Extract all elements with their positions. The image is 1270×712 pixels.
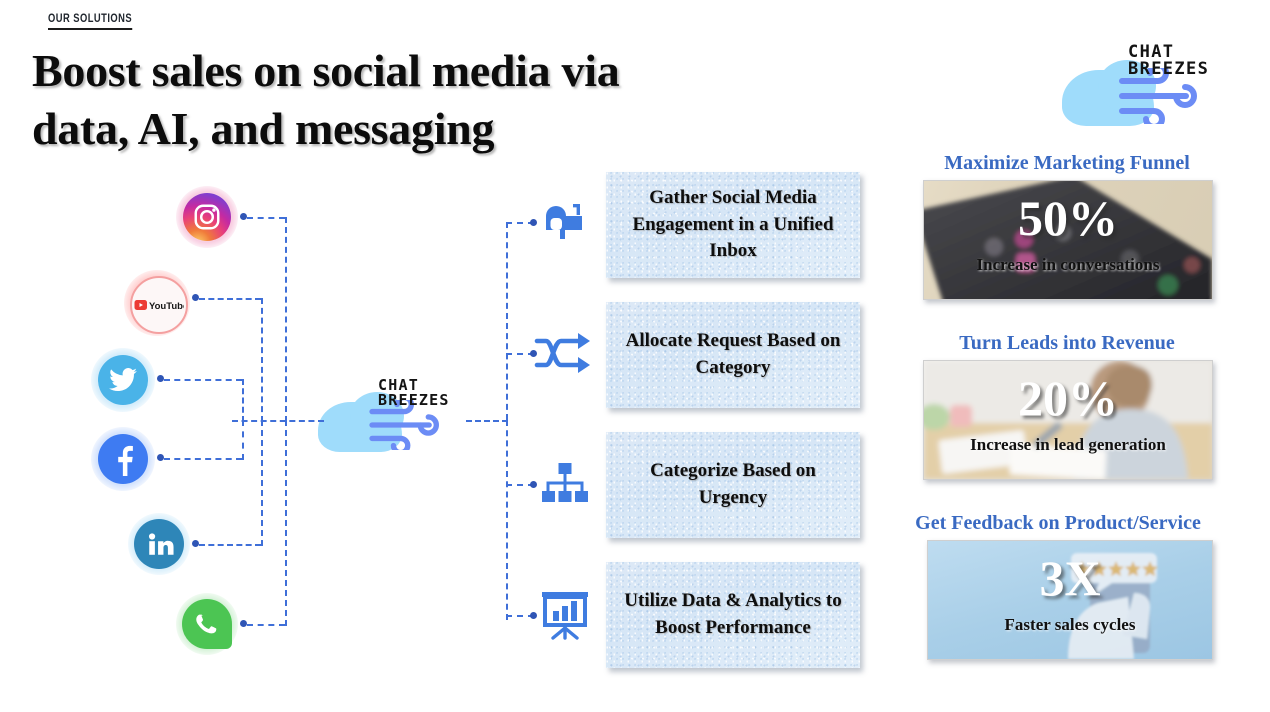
brand-logo-top-right: CHAT BREEZES [1062, 44, 1230, 126]
connector-line [285, 420, 287, 626]
connector-dot [192, 540, 199, 547]
social-icon-whatsapp[interactable] [176, 593, 238, 655]
stat-card-metric: 20% [924, 373, 1212, 423]
instagram-glyph [183, 193, 231, 241]
connector-dot [530, 481, 537, 488]
stat-card-frame: 3X Faster sales cycles [927, 540, 1213, 660]
connector-line [242, 379, 244, 422]
social-icon-twitter[interactable] [91, 348, 155, 412]
connector-line [164, 379, 242, 381]
presentation-chart-icon[interactable] [540, 588, 590, 640]
feature-box-label: Categorize Based on Urgency [606, 458, 860, 511]
connector-dot [157, 454, 164, 461]
brand-wordmark: CHAT BREEZES [378, 378, 450, 409]
connector-line [506, 222, 508, 420]
connector-line [199, 298, 261, 300]
twitter-bird-icon [108, 367, 138, 393]
social-icon-linkedin[interactable] [128, 513, 190, 575]
stat-card[interactable]: Get Feedback on Product/Service [905, 512, 1211, 662]
facebook-glyph [98, 434, 148, 484]
social-icon-youtube[interactable]: YouTube [124, 270, 190, 336]
connector-line [247, 624, 285, 626]
stat-card-caption: Increase in lead generation [924, 435, 1212, 455]
feature-box-label: Allocate Request Based on Category [606, 328, 860, 381]
svg-text:YouTube: YouTube [149, 301, 184, 312]
connector-line [199, 544, 261, 546]
linkedin-glyph [134, 519, 184, 569]
section-eyebrow-label: OUR SOLUTIONS [48, 11, 132, 30]
connector-dot [157, 375, 164, 382]
brand-word-line-2: BREEZES [1128, 61, 1209, 78]
connector-trunk-left [232, 420, 324, 422]
slide-canvas: OUR SOLUTIONS Boost sales on social medi… [0, 0, 1270, 712]
connector-line [261, 420, 263, 546]
feature-box-label: Gather Social Media Engagement in a Unif… [606, 185, 860, 265]
stat-card-title: Get Feedback on Product/Service [905, 512, 1211, 535]
social-icon-facebook[interactable] [91, 427, 155, 491]
stat-card-metric: 50% [924, 193, 1212, 243]
twitter-glyph [98, 355, 148, 405]
connector-dot [530, 612, 537, 619]
stat-card-caption: Faster sales cycles [928, 615, 1212, 635]
brand-logo-center: CHAT BREEZES [318, 378, 468, 452]
feature-box[interactable]: Categorize Based on Urgency [606, 432, 860, 538]
connector-trunk-right [466, 420, 508, 422]
connector-line [242, 420, 244, 460]
stat-card-title: Maximize Marketing Funnel [923, 152, 1211, 175]
youtube-glyph: YouTube [130, 276, 188, 334]
feature-box[interactable]: Gather Social Media Engagement in a Unif… [606, 172, 860, 278]
youtube-wordmark-icon: YouTube [134, 296, 184, 314]
stat-card[interactable]: Turn Leads into Revenue [923, 332, 1211, 482]
feature-box[interactable]: Allocate Request Based on Category [606, 302, 860, 408]
connector-line [285, 217, 287, 422]
phone-handset-icon [193, 610, 221, 638]
connector-line [506, 420, 508, 620]
whatsapp-glyph [182, 599, 232, 649]
feature-box[interactable]: Utilize Data & Analytics to Boost Perfor… [606, 562, 860, 668]
stat-card-caption: Increase in conversations [924, 255, 1212, 275]
brand-wordmark: CHAT BREEZES [1128, 44, 1209, 79]
hierarchy-icon[interactable] [540, 460, 590, 508]
stat-card-frame: 20% Increase in lead generation [923, 360, 1213, 480]
stat-card-metric: 3X [928, 553, 1212, 603]
mailbox-icon[interactable] [540, 198, 588, 246]
connector-line [247, 217, 285, 219]
connector-dot [530, 219, 537, 226]
linkedin-in-icon [144, 529, 174, 559]
connector-line [261, 298, 263, 422]
connector-dot [192, 294, 199, 301]
connector-line [164, 458, 242, 460]
shuffle-icon[interactable] [534, 329, 590, 377]
facebook-f-icon [109, 442, 137, 476]
connector-dot [240, 620, 247, 627]
connector-dot [240, 213, 247, 220]
stat-card-frame: 50% Increase in conversations [923, 180, 1213, 300]
camera-outline-icon [192, 202, 222, 232]
page-title: Boost sales on social media via data, AI… [32, 42, 732, 158]
brand-word-line-2: BREEZES [378, 393, 450, 408]
page-title-line-2: data, AI, and messaging [32, 100, 732, 158]
page-title-line-1: Boost sales on social media via [32, 42, 732, 100]
stat-card[interactable]: Maximize Marketing Funnel [923, 152, 1211, 302]
feature-box-label: Utilize Data & Analytics to Boost Perfor… [606, 588, 860, 641]
social-icon-instagram[interactable] [176, 186, 238, 248]
stat-card-title: Turn Leads into Revenue [923, 332, 1211, 355]
